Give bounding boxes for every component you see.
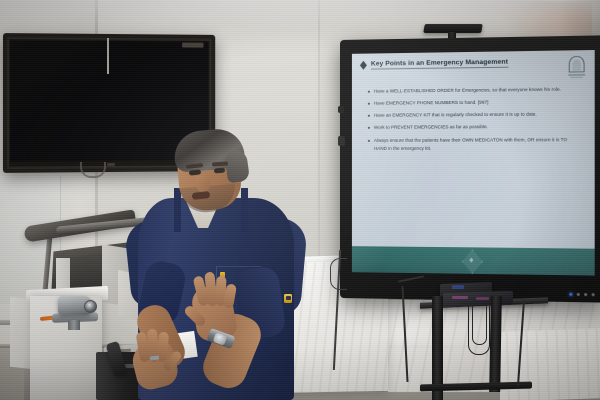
display-bezel: Key Points in an Emergency Management: [340, 35, 600, 302]
arch-logo-icon: [566, 54, 587, 79]
photo-scene: Key Points in an Emergency Management: [0, 0, 600, 400]
slide-title-row: Key Points in an Emergency Management: [360, 57, 586, 70]
slide-title: Key Points in an Emergency Management: [371, 59, 508, 70]
bullet-dot-icon: [368, 115, 370, 117]
slide-bullet-text: Always ensure that the patients have the…: [374, 136, 582, 155]
av-box-indicator: [452, 285, 464, 289]
display-side-button[interactable]: [338, 106, 344, 113]
slide-bullet: Have an EMERGENCY KIT that is regularly …: [368, 110, 582, 120]
sleeve-badge: [284, 294, 292, 303]
dust-sheet-right: [500, 328, 600, 400]
slide-body: Key Points in an Emergency Management: [352, 50, 595, 249]
display-cable-loop: [330, 258, 347, 290]
slide-bullet: Always ensure that the patients have the…: [368, 136, 582, 155]
av-box-led-strip: [476, 297, 489, 300]
bullet-dot-icon: [368, 103, 370, 105]
ceiling-gradient: [0, 0, 600, 26]
display-screen[interactable]: Key Points in an Emergency Management: [352, 50, 595, 276]
eye: [214, 168, 225, 174]
bullet-dot-icon: [368, 127, 370, 129]
diamond-bullet-icon: [360, 61, 367, 70]
slide-bullet-text: Have an EMERGENCY KIT that is regularly …: [374, 111, 537, 121]
display-sensor: [584, 293, 587, 296]
display-sensor: [577, 293, 580, 296]
slide: Key Points in an Emergency Management: [352, 50, 595, 276]
hair-side: [224, 149, 250, 184]
display-power-led: [569, 293, 572, 296]
slide-bullet-list: Have a WELL-ESTABLISHED ORDER for Emerge…: [368, 85, 582, 154]
footer-diamond-icon: [462, 249, 483, 274]
slide-bullet: Have EMERGENCY PHONE NUMBERS to hand. [9…: [368, 98, 582, 109]
slide-footer: [352, 246, 595, 275]
bullet-dot-icon: [368, 91, 370, 93]
slide-bullet: Have a WELL-ESTABLISHED ORDER for Emerge…: [368, 85, 582, 96]
tv-wall-cable: [107, 38, 109, 74]
presentation-display[interactable]: Key Points in an Emergency Management: [340, 24, 600, 296]
av-box-led-strip: [452, 296, 468, 299]
display-stand-leg: [489, 296, 502, 392]
slide-bullet-text: Have a WELL-ESTABLISHED ORDER for Emerge…: [374, 86, 561, 97]
display-sensor: [592, 293, 595, 296]
slide-bullet: Work to PREVENT EMERGENCIES as far as po…: [368, 123, 582, 133]
camera-stem: [68, 320, 80, 330]
tv-power-led: [107, 163, 115, 166]
slide-bullet-text: Have EMERGENCY PHONE NUMBERS to hand. [9…: [374, 99, 489, 109]
display-control-panel[interactable]: [569, 293, 594, 297]
slide-bullet-text: Work to PREVENT EMERGENCIES as far as po…: [374, 124, 488, 133]
presenter: [120, 136, 330, 400]
camera-lens-icon: [84, 300, 97, 313]
display-side-button[interactable]: [338, 136, 345, 146]
hanging-cable: [472, 306, 487, 345]
bullet-dot-icon: [368, 140, 370, 142]
tv-brand-logo: [182, 43, 203, 48]
